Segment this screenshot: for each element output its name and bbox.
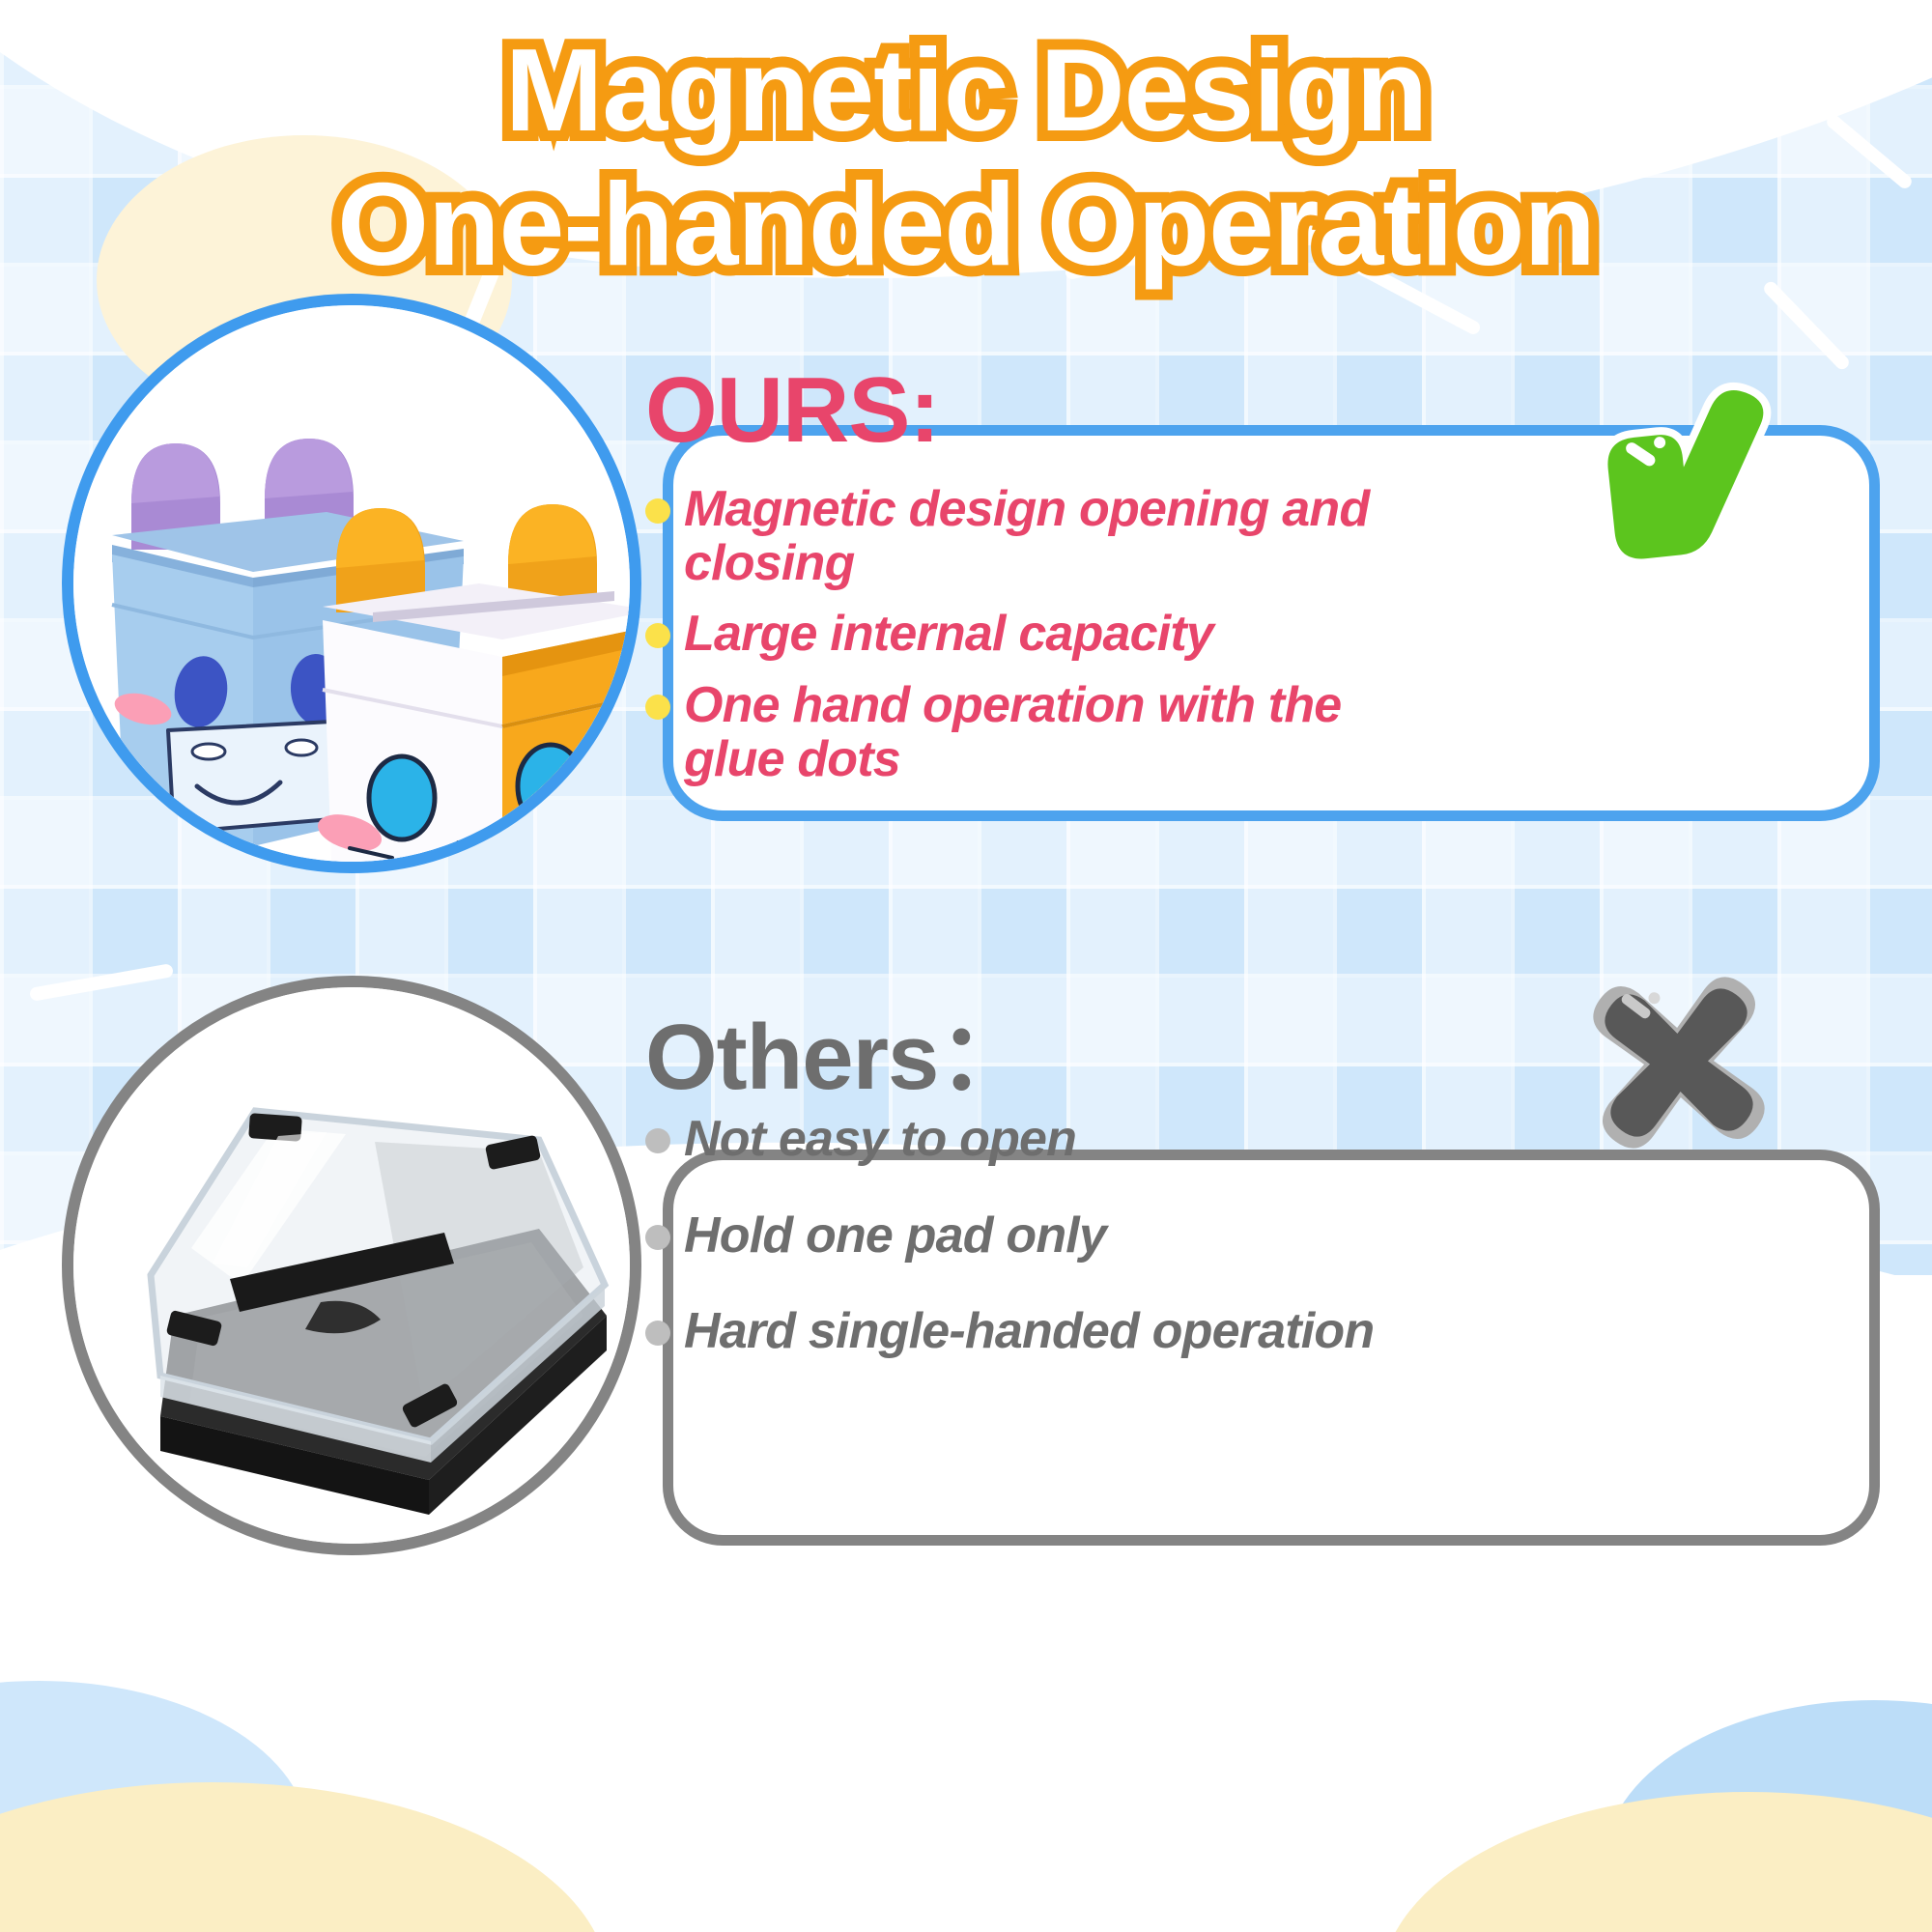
list-item: Large internal capacity xyxy=(645,608,1447,662)
bullet-dot-icon xyxy=(645,1321,670,1346)
cross-badge-icon xyxy=(1584,968,1774,1157)
ours-bullet-list: Magnetic design opening and closing Larg… xyxy=(645,483,1447,804)
bullet-dot-icon xyxy=(645,498,670,524)
ours-bullet-1: Magnetic design opening and closing xyxy=(684,483,1447,590)
bullet-dot-icon xyxy=(645,1128,670,1153)
others-bullet-list: Not easy to open Hold one pad only Hard … xyxy=(645,1113,1447,1402)
title-line-1: Magnetic Design xyxy=(0,23,1932,157)
ours-heading: OURS: xyxy=(645,357,939,464)
others-bullet-3: Hard single-handed operation xyxy=(684,1305,1374,1359)
list-item: Hold one pad only xyxy=(645,1209,1447,1264)
bullet-dot-icon xyxy=(645,695,670,720)
others-bullet-1: Not easy to open xyxy=(684,1113,1076,1167)
others-heading: Others： xyxy=(645,981,1030,1116)
others-bullet-2: Hold one pad only xyxy=(684,1209,1106,1264)
ours-product-photo xyxy=(62,294,641,873)
others-product-illustration xyxy=(73,987,641,1555)
list-item: One hand operation with the glue dots xyxy=(645,679,1447,786)
others-product-photo xyxy=(62,976,641,1555)
page-title: Magnetic Design One-handed Operation xyxy=(0,23,1932,292)
bullet-dot-icon xyxy=(645,1225,670,1250)
check-badge-icon xyxy=(1578,357,1781,560)
bullet-dot-icon xyxy=(645,623,670,648)
title-line-2: One-handed Operation xyxy=(0,157,1932,292)
ours-product-illustration xyxy=(73,305,641,873)
list-item: Hard single-handed operation xyxy=(645,1305,1447,1359)
ours-bullet-3: One hand operation with the glue dots xyxy=(684,679,1447,786)
ours-bullet-2: Large internal capacity xyxy=(684,608,1213,662)
list-item: Magnetic design opening and closing xyxy=(645,483,1447,590)
list-item: Not easy to open xyxy=(645,1113,1447,1167)
